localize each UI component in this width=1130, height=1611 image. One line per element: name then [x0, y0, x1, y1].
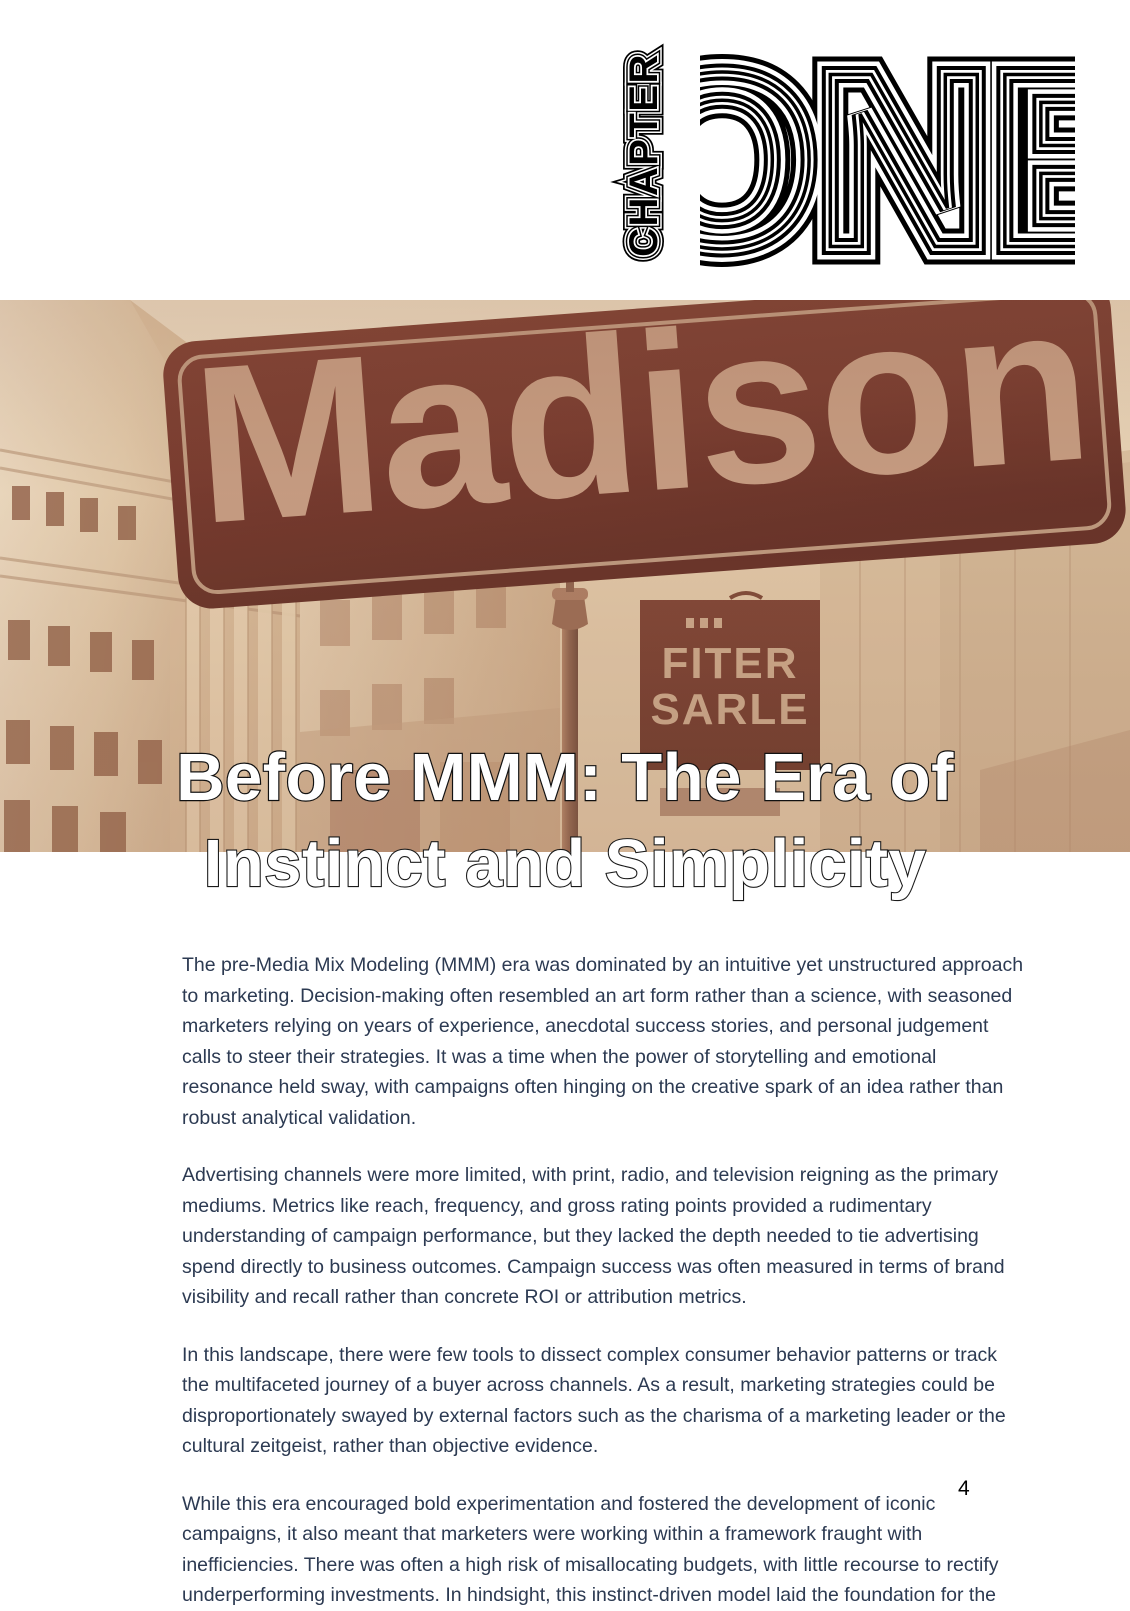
body-paragraph-3: In this landscape, there were few tools …: [182, 1340, 1027, 1462]
body-paragraph-2: Advertising channels were more limited, …: [182, 1160, 1027, 1313]
chapter-label: CHAPTER CHAPTER CHAPTER CHAPTER CHAPTER: [596, 24, 692, 286]
madison-street-sign-photo: FITER SARLE: [0, 300, 1130, 852]
chapter-label-core: CHAPTER: [622, 53, 666, 257]
chapter-number-word: ONE ONE ONE ONE ONE: [700, 28, 1075, 286]
one-ring-5: ONE: [700, 28, 1075, 286]
chapter-header: CHAPTER CHAPTER CHAPTER CHAPTER CHAPTER …: [0, 0, 1130, 300]
body-copy: The pre-Media Mix Modeling (MMM) era was…: [182, 950, 1027, 1611]
body-paragraph-1: The pre-Media Mix Modeling (MMM) era was…: [182, 950, 1027, 1133]
chapter-hero-image: FITER SARLE: [0, 300, 1130, 852]
page-number: 4: [958, 1478, 970, 1499]
body-paragraph-4: While this era encouraged bold experimen…: [182, 1489, 1027, 1611]
